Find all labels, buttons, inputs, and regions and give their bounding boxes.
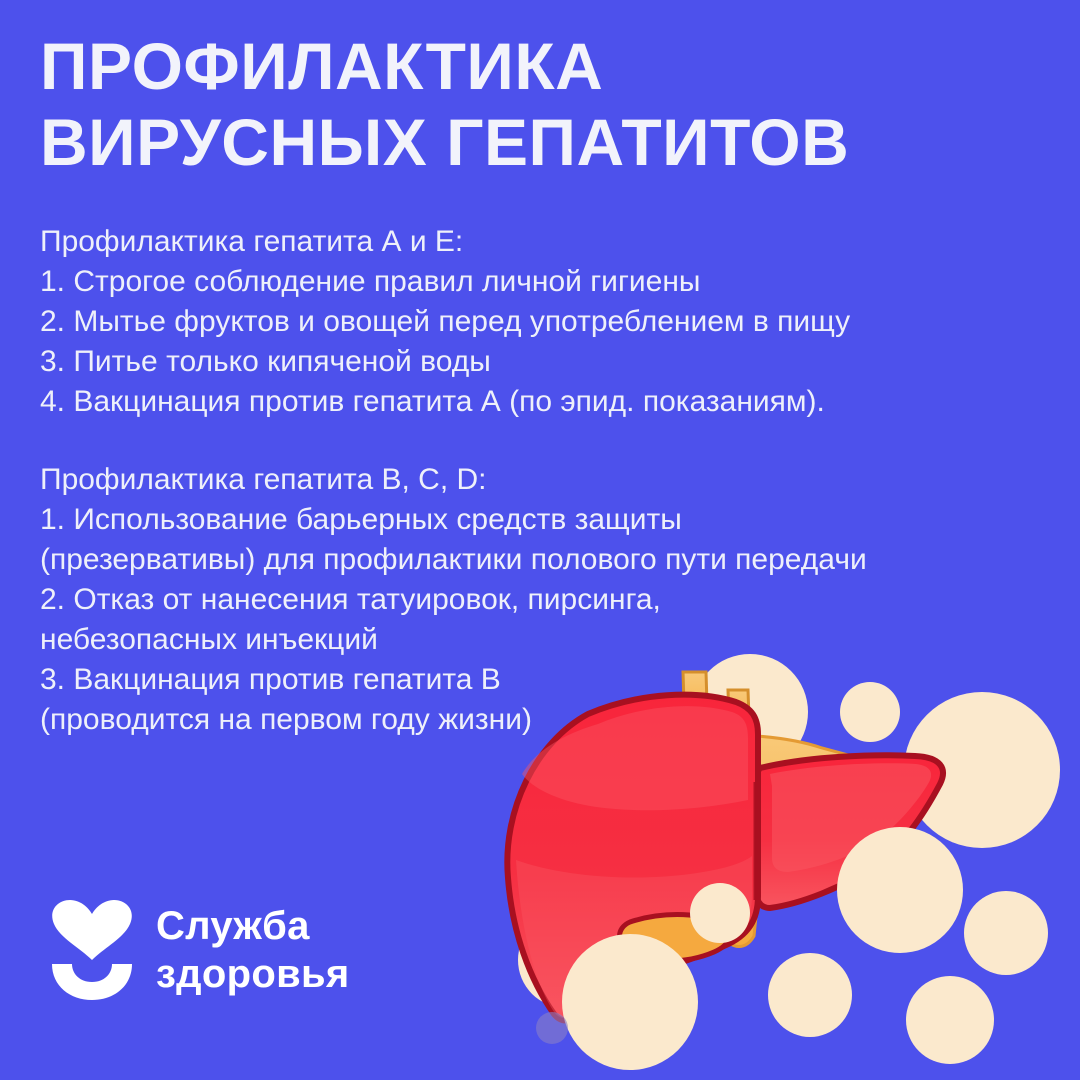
brand-logo: Служба здоровья (44, 898, 350, 1002)
poster-canvas: ПРОФИЛАКТИКА ВИРУСНЫХ ГЕПАТИТОВ Профилак… (0, 0, 1080, 1080)
bubble-icon (768, 953, 852, 1037)
block-a-item-3: 3. Питье только кипяченой воды (40, 342, 1050, 382)
brand-name: Служба здоровья (156, 902, 350, 998)
block-a-heading: Профилактика гепатита А и Е: (40, 222, 1050, 262)
block-a-item-2: 2. Мытье фруктов и овощей перед употребл… (40, 302, 1050, 342)
title-line-2: ВИРУСНЫХ ГЕПАТИТОВ (40, 104, 1040, 180)
block-a-item-1: 1. Строгое соблюдение правил личной гиги… (40, 262, 1050, 302)
prevention-block-b: Профилактика гепатита В, С, D: 1. Исполь… (40, 460, 1050, 740)
bubble-icon (690, 883, 750, 943)
bubble-icon (562, 934, 698, 1070)
bubble-icon (837, 827, 963, 953)
block-a-item-4: 4. Вакцинация против гепатита А (по эпид… (40, 382, 1050, 422)
block-b-heading: Профилактика гепатита В, С, D: (40, 460, 1050, 500)
block-b-item-1-cont: (презервативы) для профилактики полового… (40, 540, 1050, 580)
title-line-1: ПРОФИЛАКТИКА (40, 28, 1040, 104)
block-b-item-1: 1. Использование барьерных средств защит… (40, 500, 1050, 540)
prevention-block-a: Профилактика гепатита А и Е: 1. Строгое … (40, 222, 1050, 422)
bubble-icon (906, 976, 994, 1064)
bubble-icon (964, 891, 1048, 975)
bubble-icon (536, 1012, 568, 1044)
block-b-item-2-cont: небезопасных инъекций (40, 620, 1050, 660)
block-b-item-3: 3. Вакцинация против гепатита В (40, 660, 1050, 700)
page-title: ПРОФИЛАКТИКА ВИРУСНЫХ ГЕПАТИТОВ (40, 28, 1040, 180)
heart-smile-logo-icon (44, 898, 140, 1002)
brand-name-line-1: Служба (156, 902, 350, 950)
block-b-item-2: 2. Отказ от нанесения татуировок, пирсин… (40, 580, 1050, 620)
brand-name-line-2: здоровья (156, 950, 350, 998)
block-b-item-3-cont: (проводится на первом году жизни) (40, 700, 1050, 740)
content-body: Профилактика гепатита А и Е: 1. Строгое … (40, 222, 1050, 740)
